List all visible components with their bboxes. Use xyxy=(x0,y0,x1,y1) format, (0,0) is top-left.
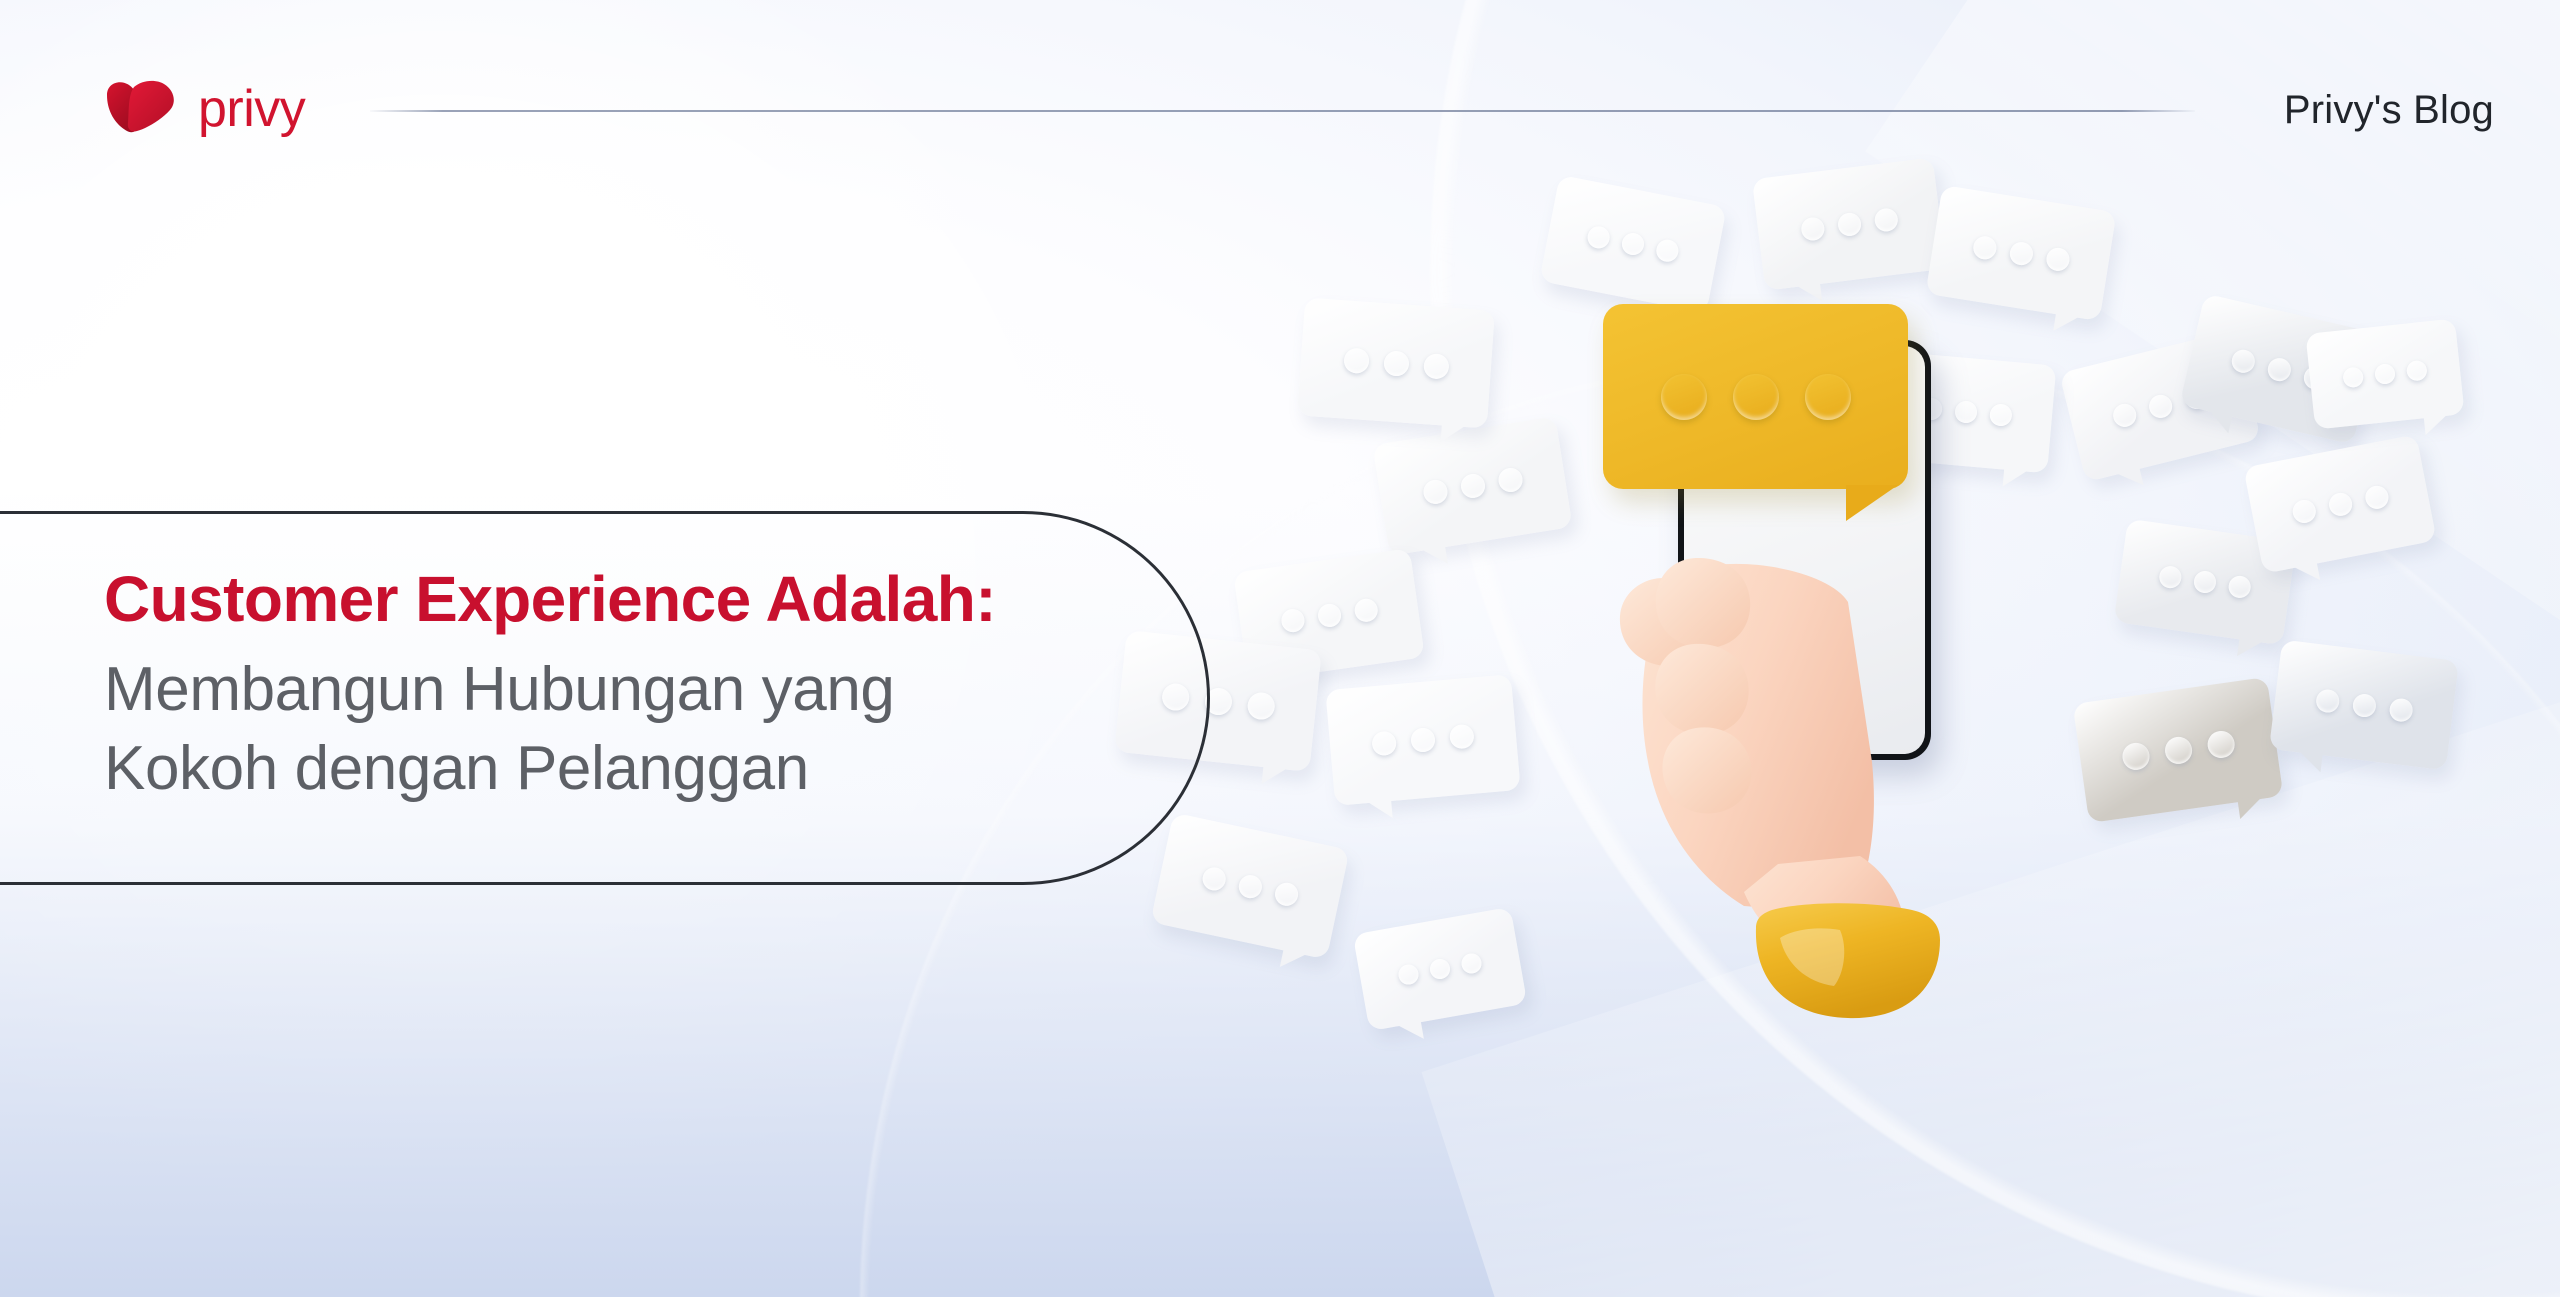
bubble-dot xyxy=(2227,574,2252,599)
bubble-dot xyxy=(2351,692,2377,718)
bubble-dot xyxy=(1423,352,1450,379)
bubble-dot xyxy=(2205,729,2235,759)
bubble-dot xyxy=(2146,392,2174,420)
bubble-dot xyxy=(2388,697,2414,723)
headline-line-3: Kokoh dengan Pelanggan xyxy=(104,729,1204,808)
bubble-dot xyxy=(1343,347,1370,374)
brand-logo[interactable]: privy xyxy=(104,78,305,134)
bubble-dot xyxy=(2406,360,2428,382)
bubble-dot xyxy=(1449,724,1475,750)
bubble-dot xyxy=(1273,880,1300,907)
bubble-dot xyxy=(1586,224,1612,250)
bubble-dot xyxy=(2158,565,2183,590)
bubble-dot xyxy=(1620,231,1646,257)
bubble-dot xyxy=(2290,498,2317,525)
bubble-dot xyxy=(1428,957,1451,980)
bubble-dot xyxy=(1371,730,1397,756)
bubble-dot xyxy=(2363,483,2390,510)
bubble-dot xyxy=(2314,688,2340,714)
chat-bubble-11 xyxy=(1325,674,1520,806)
bubble-dot xyxy=(1200,865,1227,892)
bubble-dot xyxy=(1421,478,1448,505)
chat-bubble-13 xyxy=(1353,907,1528,1031)
chat-bubble-1 xyxy=(1372,416,1572,556)
chat-bubble-15 xyxy=(2243,434,2436,574)
bubble-dot xyxy=(1397,963,1420,986)
bubble-dot xyxy=(1799,216,1825,242)
header-divider xyxy=(370,110,2195,112)
chat-bubble-18 xyxy=(2305,318,2464,429)
hand-illustration xyxy=(1548,462,2028,1022)
headline-highlight: Customer Experience Adalah: xyxy=(104,565,1204,634)
bubble-dot xyxy=(2008,240,2034,266)
bubble-dot xyxy=(1316,602,1342,628)
bubble-dot xyxy=(1353,597,1379,623)
bubble-dot xyxy=(2044,246,2070,272)
bubble-dot xyxy=(2265,355,2293,383)
bubble-dot xyxy=(1496,466,1523,493)
bubble-dot xyxy=(1410,727,1436,753)
bubble-dot xyxy=(1460,952,1483,975)
bubble-dot xyxy=(1383,350,1410,377)
bubble-dot xyxy=(1246,691,1276,721)
bubble-dot xyxy=(2110,401,2138,429)
bubble-dot xyxy=(1459,472,1486,499)
bubble-dot xyxy=(2374,363,2396,385)
bubble-dot xyxy=(1971,234,1997,260)
headline-subtext: Membangun Hubungan yang Kokoh dengan Pel… xyxy=(104,650,1204,809)
bubble-dot xyxy=(2342,366,2364,388)
bubble-dot xyxy=(1279,607,1305,633)
brand-logo-wordmark: privy xyxy=(198,83,305,135)
bubble-dot xyxy=(2327,491,2354,518)
page-header: privy Privy's Blog xyxy=(0,0,2560,200)
bubble-dot xyxy=(1805,374,1851,420)
privy-heart-logo-icon xyxy=(104,78,180,134)
chat-bubble-2 xyxy=(1297,298,1495,429)
chat-bubble-16 xyxy=(2073,677,2284,823)
bubble-dot xyxy=(2163,735,2193,765)
bubble-dot xyxy=(2120,741,2150,771)
blog-link[interactable]: Privy's Blog xyxy=(2284,88,2494,133)
headline-line-2: Membangun Hubungan yang xyxy=(104,650,1204,729)
chat-bubble-active-yellow xyxy=(1603,304,1908,489)
bubble-dot xyxy=(1989,403,2013,427)
bubble-dot xyxy=(1654,238,1680,264)
bubble-dot xyxy=(2229,347,2257,375)
hero-headline: Customer Experience Adalah: Membangun Hu… xyxy=(104,565,1204,809)
hero-illustration xyxy=(1180,230,2560,1230)
bubble-dot xyxy=(1836,211,1862,237)
bubble-dot xyxy=(2193,570,2218,595)
bubble-dot xyxy=(1236,872,1263,899)
chat-bubble-12 xyxy=(1150,813,1349,960)
bubble-dot xyxy=(1733,374,1779,420)
bubble-dot xyxy=(1873,207,1899,233)
chat-bubble-17 xyxy=(2269,640,2459,771)
bubble-dot xyxy=(1661,374,1707,420)
bubble-dot xyxy=(1954,400,1978,424)
